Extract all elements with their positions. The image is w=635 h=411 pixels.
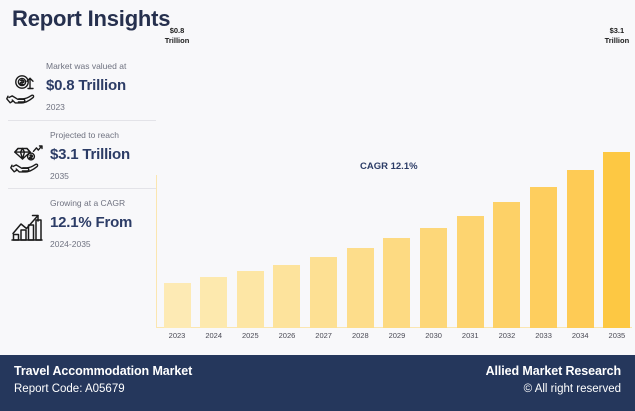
chart-bar-column <box>309 48 339 328</box>
chart-x-label: 2032 <box>492 331 522 340</box>
chart-bar-value-label: $0.8 Trillion <box>149 26 205 45</box>
chart-bar <box>383 238 410 328</box>
chart-bar <box>273 265 300 328</box>
hand-diamond-growth-icon <box>8 127 48 175</box>
chart-x-label: 2031 <box>455 331 485 340</box>
footer-report-code: Report Code: A05679 <box>14 383 192 395</box>
bar-chart-arrow-icon <box>8 195 48 243</box>
chart-bar <box>237 271 264 328</box>
chart-bar <box>164 283 191 328</box>
market-forecast-bar-chart: CAGR 12.1% $0.8 Trillion$3.1 Trillion 20… <box>156 48 635 348</box>
chart-bar <box>420 228 447 328</box>
chart-bar-value-label: $3.1 Trillion <box>589 26 635 45</box>
footer-report-info: Travel Accommodation Market Report Code:… <box>14 364 192 395</box>
chart-bar-column: $3.1 Trillion <box>602 48 632 328</box>
chart-bar <box>310 257 337 328</box>
chart-bar <box>567 170 594 328</box>
chart-bar-column <box>565 48 595 328</box>
chart-bar-column <box>199 48 229 328</box>
insight-period: 2035 <box>50 171 148 181</box>
footer-brand-name: Allied Market Research <box>486 364 621 378</box>
chart-bar <box>530 187 557 328</box>
footer-copyright: © All right reserved <box>486 383 621 395</box>
footer-report-title: Travel Accommodation Market <box>14 364 192 378</box>
report-footer: Travel Accommodation Market Report Code:… <box>0 355 635 411</box>
chart-bar-column <box>382 48 412 328</box>
chart-bars: $0.8 Trillion$3.1 Trillion <box>162 48 632 328</box>
chart-x-label: 2030 <box>419 331 449 340</box>
chart-x-label: 2026 <box>272 331 302 340</box>
chart-bar <box>200 277 227 328</box>
chart-bar <box>347 248 374 328</box>
chart-bar-column <box>272 48 302 328</box>
chart-x-label: 2023 <box>162 331 192 340</box>
chart-bar-column <box>455 48 485 328</box>
chart-bar <box>457 216 484 328</box>
chart-bar-column <box>419 48 449 328</box>
footer-brand-info: Allied Market Research © All right reser… <box>486 364 621 395</box>
chart-x-axis-labels: 2023202420252026202720282029203020312032… <box>162 331 632 340</box>
insight-period: 2024-2035 <box>50 239 148 249</box>
page-title: Report Insights <box>12 6 170 32</box>
insight-card-market-value: Market was valued at $0.8 Trillion 2023 <box>0 52 156 120</box>
hand-money-growth-icon <box>4 58 44 106</box>
insight-value: $0.8 Trillion <box>46 75 148 98</box>
chart-bar-column: $0.8 Trillion <box>162 48 192 328</box>
chart-x-label: 2028 <box>345 331 375 340</box>
insights-panel: Market was valued at $0.8 Trillion 2023 <box>0 52 156 256</box>
insight-card-projected-value: Projected to reach $3.1 Trillion 2035 <box>8 120 156 188</box>
chart-bar-column <box>345 48 375 328</box>
insight-period: 2023 <box>46 102 148 112</box>
chart-x-label: 2027 <box>309 331 339 340</box>
chart-x-label: 2025 <box>235 331 265 340</box>
chart-x-label: 2024 <box>199 331 229 340</box>
insight-card-cagr: Growing at a CAGR 12.1% From 2024-2035 <box>8 188 156 256</box>
chart-bar-column <box>529 48 559 328</box>
insight-caption: Growing at a CAGR <box>50 197 142 209</box>
chart-y-axis-line <box>156 175 157 327</box>
chart-bar <box>493 202 520 328</box>
insight-caption: Market was valued at <box>46 60 138 72</box>
chart-bar-column <box>235 48 265 328</box>
chart-bar <box>603 152 630 328</box>
chart-x-label: 2029 <box>382 331 412 340</box>
insight-value: 12.1% From <box>50 212 148 235</box>
chart-bar-column <box>492 48 522 328</box>
chart-x-label: 2033 <box>529 331 559 340</box>
report-insights-page: Report Insights M <box>0 0 635 411</box>
insight-value: $3.1 Trillion <box>50 144 148 167</box>
insight-caption: Projected to reach <box>50 129 142 141</box>
chart-x-label: 2034 <box>565 331 595 340</box>
chart-x-label: 2035 <box>602 331 632 340</box>
